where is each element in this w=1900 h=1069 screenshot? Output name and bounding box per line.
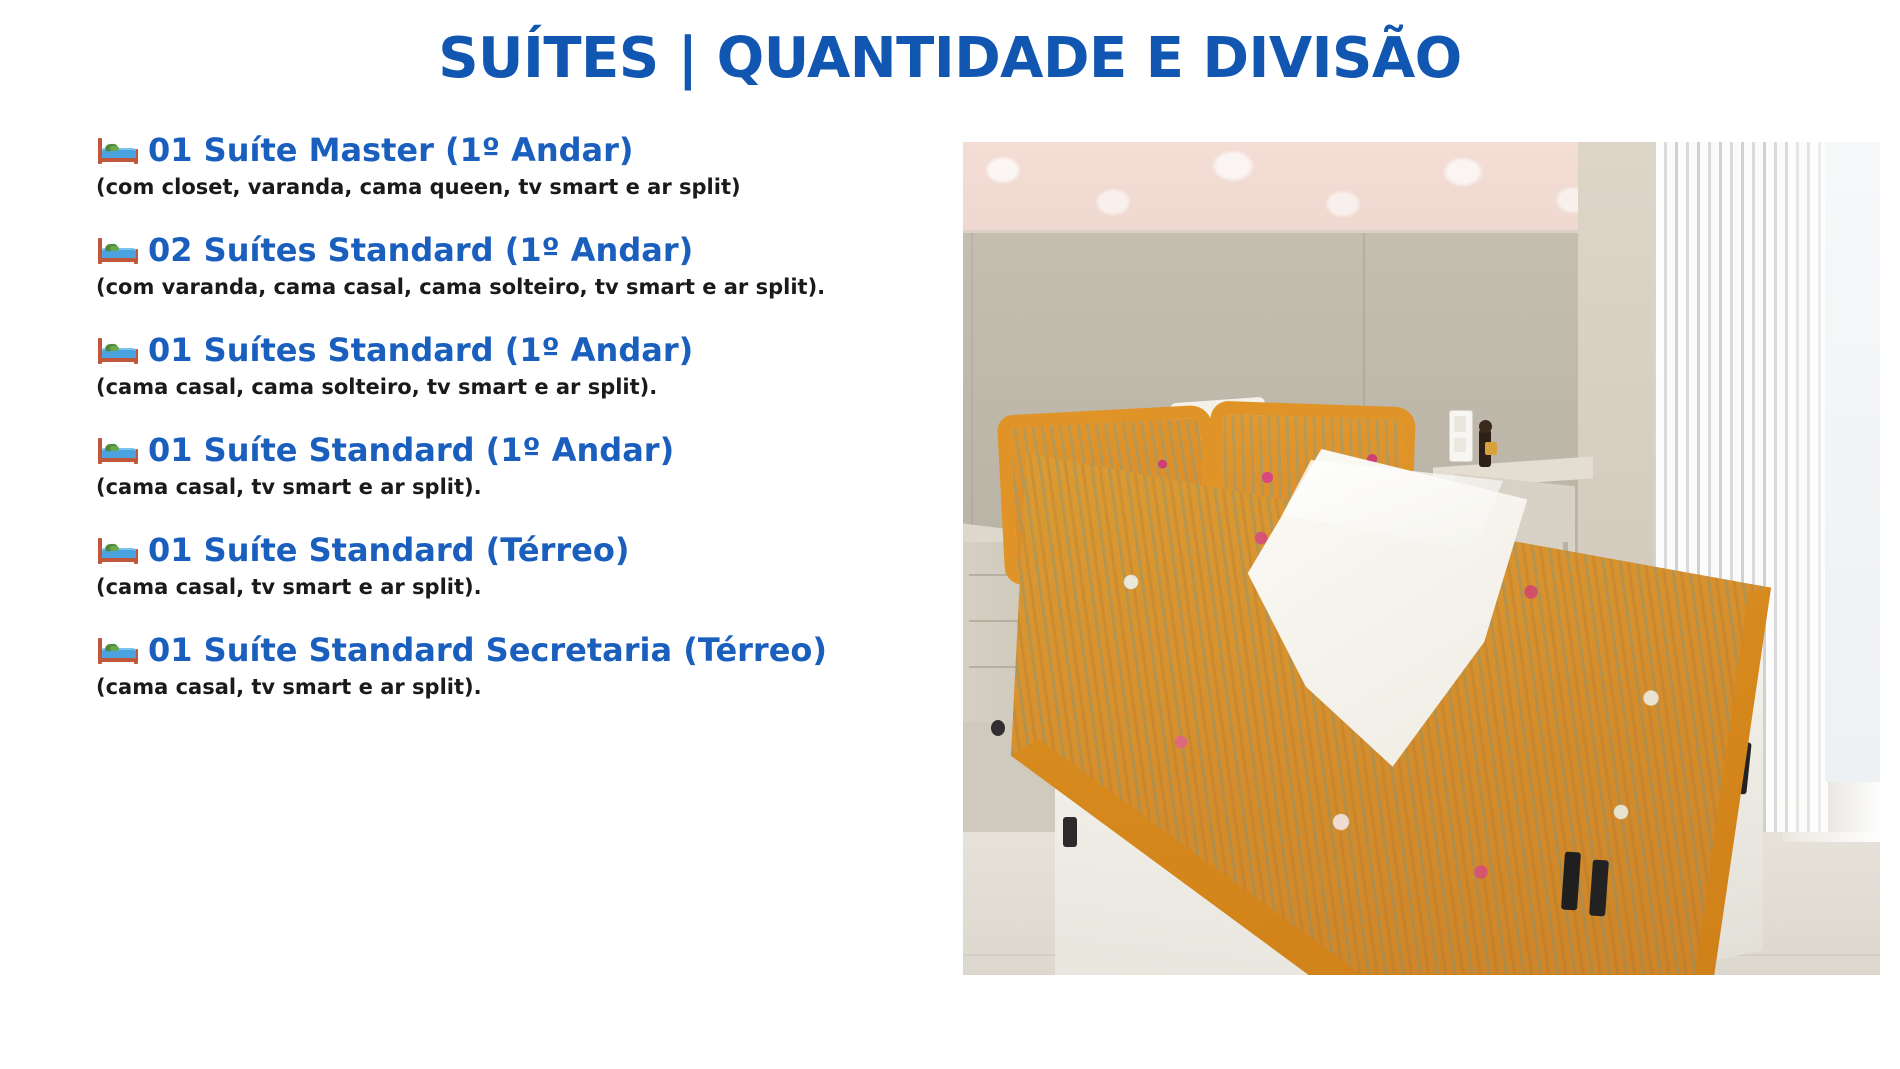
suite-heading-row: 01 Suíte Standard (1º Andar) xyxy=(96,432,936,469)
bed-icon xyxy=(96,235,140,265)
suite-heading-row: 01 Suíte Standard Secretaria (Térreo) xyxy=(96,632,936,669)
window-pane xyxy=(1825,142,1880,782)
light-switch-rocker xyxy=(1454,438,1466,452)
figurine-accessory xyxy=(1485,442,1497,455)
suite-heading-label: 01 Suíte Standard Secretaria (Térreo) xyxy=(148,632,827,669)
figurine-head xyxy=(1479,420,1492,433)
bedroom-photo xyxy=(963,142,1880,975)
list-item: 01 Suíte Standard Secretaria (Térreo) (c… xyxy=(96,632,936,700)
suite-details: (cama casal, tv smart e ar split). xyxy=(96,475,936,500)
suite-heading-row: 02 Suítes Standard (1º Andar) xyxy=(96,232,936,269)
suite-heading-row: 01 Suíte Master (1º Andar) xyxy=(96,132,936,169)
bed-icon xyxy=(96,335,140,365)
list-item: 01 Suítes Standard (1º Andar) (cama casa… xyxy=(96,332,936,400)
bed-leg xyxy=(1063,817,1077,847)
list-item: 01 Suíte Master (1º Andar) (com closet, … xyxy=(96,132,936,200)
page-title: SUÍTES | QUANTIDADE E DIVISÃO xyxy=(0,26,1900,91)
suite-details: (com varanda, cama casal, cama solteiro,… xyxy=(96,275,936,300)
suite-heading-label: 01 Suíte Master (1º Andar) xyxy=(148,132,634,169)
suite-heading-label: 01 Suíte Standard (1º Andar) xyxy=(148,432,674,469)
suite-heading-label: 02 Suítes Standard (1º Andar) xyxy=(148,232,693,269)
suite-details: (com closet, varanda, cama queen, tv sma… xyxy=(96,175,936,200)
suite-details: (cama casal, tv smart e ar split). xyxy=(96,675,936,700)
nightstand-caster xyxy=(991,720,1005,736)
bed-icon xyxy=(96,435,140,465)
list-item: 02 Suítes Standard (1º Andar) (com varan… xyxy=(96,232,936,300)
wallpaper-band xyxy=(963,142,1623,232)
list-item: 01 Suíte Standard (1º Andar) (cama casal… xyxy=(96,432,936,500)
suite-list: 01 Suíte Master (1º Andar) (com closet, … xyxy=(96,132,936,700)
suite-details: (cama casal, cama solteiro, tv smart e a… xyxy=(96,375,936,400)
light-switch-rocker xyxy=(1454,416,1466,432)
bed-icon xyxy=(96,535,140,565)
suite-heading-row: 01 Suítes Standard (1º Andar) xyxy=(96,332,936,369)
list-item: 01 Suíte Standard (Térreo) (cama casal, … xyxy=(96,532,936,600)
headboard-seam xyxy=(971,233,973,573)
suite-heading-row: 01 Suíte Standard (Térreo) xyxy=(96,532,936,569)
bed-icon xyxy=(96,635,140,665)
suite-heading-label: 01 Suíte Standard (Térreo) xyxy=(148,532,629,569)
suite-heading-label: 01 Suítes Standard (1º Andar) xyxy=(148,332,693,369)
bed-icon xyxy=(96,135,140,165)
suite-details: (cama casal, tv smart e ar split). xyxy=(96,575,936,600)
